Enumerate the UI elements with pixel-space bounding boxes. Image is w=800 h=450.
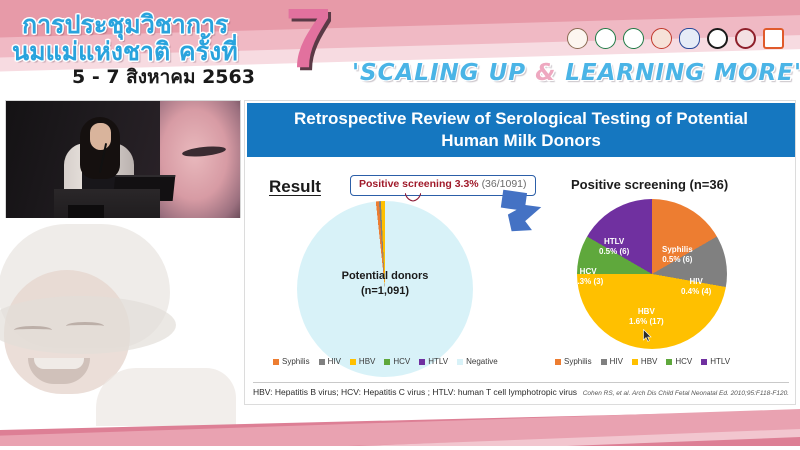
callout-percent-text: Positive screening 3.3%	[359, 178, 479, 190]
legend-left: Syphilis HIV HBV HCV HTLV Negative	[273, 357, 498, 366]
pie-left-center-sub: (n=1,091)	[297, 284, 473, 299]
tagline-part1: 'SCALING UP	[352, 60, 535, 86]
slide-viewer: การประชุมวิชาการ นมแม่แห่งชาติ ครั้งที่ …	[0, 0, 800, 450]
legend-right-swatch-hbv	[632, 359, 638, 365]
footer-bottom-edge	[0, 446, 800, 450]
legend-item-hiv[interactable]: HIV	[319, 357, 341, 366]
pie-slice-label-hbv: HBV 1.6% (17)	[629, 307, 664, 327]
legend-right-swatch-hiv	[601, 359, 607, 365]
pie-slice-label-hcv: HCV 0.3% (3)	[573, 267, 603, 287]
slice-name-htlv: HTLV	[599, 237, 629, 247]
slice-value-hbv: 1.6% (17)	[629, 317, 664, 327]
chart-positive-screening-title: Positive screening (n=36)	[571, 177, 728, 192]
slice-name-hcv: HCV	[573, 267, 603, 277]
pie-slice-label-hiv: HIV 0.4% (4)	[681, 277, 711, 297]
pie-left-center-title: Potential donors	[297, 269, 473, 284]
legend-label-hbv: HBV	[359, 357, 375, 366]
child-teeth	[34, 358, 84, 369]
slice-name-syphilis: Syphilis	[662, 245, 693, 255]
legend-label-hcv: HCV	[393, 357, 410, 366]
legend-swatch-htlv	[419, 359, 425, 365]
logo-ministry-health-green	[594, 25, 617, 51]
tagline-part2: LEARNING MORE'	[556, 60, 800, 86]
legend-label-negative: Negative	[466, 357, 498, 366]
speaker-video-inset[interactable]	[5, 100, 241, 222]
conference-date: 5 - 7 สิงหาคม 2563	[72, 62, 255, 92]
legend-right-item-htlv[interactable]: HTLV	[701, 357, 730, 366]
legend-right-swatch-htlv	[701, 359, 707, 365]
pie-slice-label-htlv: HTLV 0.5% (6)	[599, 237, 629, 257]
mouse-cursor-icon	[643, 329, 652, 342]
tagline-ampersand: &	[535, 60, 556, 86]
speaker-face	[90, 123, 111, 150]
logo-ministry-health-green-2	[622, 25, 645, 51]
legend-item-syphilis[interactable]: Syphilis	[273, 357, 310, 366]
legend-swatch-hcv	[384, 359, 390, 365]
slice-value-htlv: 0.5% (6)	[599, 247, 629, 257]
logo-blue-crown-emblem	[678, 25, 701, 51]
legend-swatch-hiv	[319, 359, 325, 365]
legend-right-swatch-hcv	[666, 359, 672, 365]
slice-name-hiv: HIV	[681, 277, 711, 287]
abbreviation-legend: HBV: Hepatitis B virus; HCV: Hepatitis C…	[253, 387, 577, 397]
slice-value-hiv: 0.4% (4)	[681, 287, 711, 297]
chart-positive-screening[interactable]: Syphilis 0.5% (6) HIV 0.4% (4) HBV 1.6% …	[577, 199, 727, 349]
legend-right-label-syphilis: Syphilis	[564, 357, 592, 366]
logo-thai-royal-emblem	[566, 25, 589, 51]
child-eye-left	[14, 326, 52, 334]
conference-tagline: 'SCALING UP & LEARNING MORE'	[352, 60, 800, 86]
legend-label-htlv: HTLV	[428, 357, 448, 366]
legend-right-item-hbv[interactable]: HBV	[632, 357, 657, 366]
conference-header-banner: การประชุมวิชาการ นมแม่แห่งชาติ ครั้งที่ …	[0, 0, 800, 96]
pie-left-center-label: Potential donors (n=1,091)	[297, 269, 473, 299]
legend-swatch-negative	[457, 359, 463, 365]
legend-swatch-syphilis	[273, 359, 279, 365]
sponsor-logo-row	[566, 25, 785, 51]
legend-label-hiv: HIV	[328, 357, 341, 366]
slide-footnote: HBV: Hepatitis B virus; HCV: Hepatitis C…	[253, 382, 789, 397]
logo-dark-red-emblem	[734, 25, 757, 51]
conference-edition-number: 7	[285, 0, 332, 80]
logo-thaihealth-sss	[762, 25, 785, 51]
legend-item-negative[interactable]: Negative	[457, 357, 498, 366]
legend-right-label-hiv: HIV	[610, 357, 623, 366]
footer-banner	[0, 402, 800, 450]
child-photo-watermark	[0, 218, 246, 426]
video-projected-face	[160, 100, 241, 222]
legend-right: Syphilis HIV HBV HCV HTLV	[555, 357, 730, 366]
legend-right-label-hcv: HCV	[675, 357, 692, 366]
source-citation: Cohen RS, et al. Arch Dis Child Fetal Ne…	[583, 390, 789, 397]
chart-potential-donors[interactable]: Potential donors (n=1,091)	[297, 201, 473, 377]
slice-value-syphilis: 0.5% (6)	[662, 255, 693, 265]
pie-slice-label-syphilis: Syphilis 0.5% (6)	[662, 245, 693, 265]
presentation-slide: Retrospective Review of Serological Test…	[244, 100, 796, 405]
legend-right-label-htlv: HTLV	[710, 357, 730, 366]
legend-right-item-hcv[interactable]: HCV	[666, 357, 692, 366]
legend-right-item-hiv[interactable]: HIV	[601, 357, 623, 366]
legend-item-hcv[interactable]: HCV	[384, 357, 410, 366]
slice-name-hbv: HBV	[629, 307, 664, 317]
logo-black-emblem	[706, 25, 729, 51]
legend-right-swatch-syphilis	[555, 359, 561, 365]
flow-arrow-icon	[494, 189, 556, 241]
legend-item-htlv[interactable]: HTLV	[419, 357, 448, 366]
legend-swatch-hbv	[350, 359, 356, 365]
result-heading: Result	[269, 177, 321, 197]
legend-item-hbv[interactable]: HBV	[350, 357, 375, 366]
legend-label-syphilis: Syphilis	[282, 357, 310, 366]
slice-value-hcv: 0.3% (3)	[573, 277, 603, 287]
child-eye-right	[66, 322, 104, 330]
logo-red-orange-emblem	[650, 25, 673, 51]
legend-right-label-hbv: HBV	[641, 357, 657, 366]
slide-title: Retrospective Review of Serological Test…	[247, 103, 795, 157]
legend-right-item-syphilis[interactable]: Syphilis	[555, 357, 592, 366]
